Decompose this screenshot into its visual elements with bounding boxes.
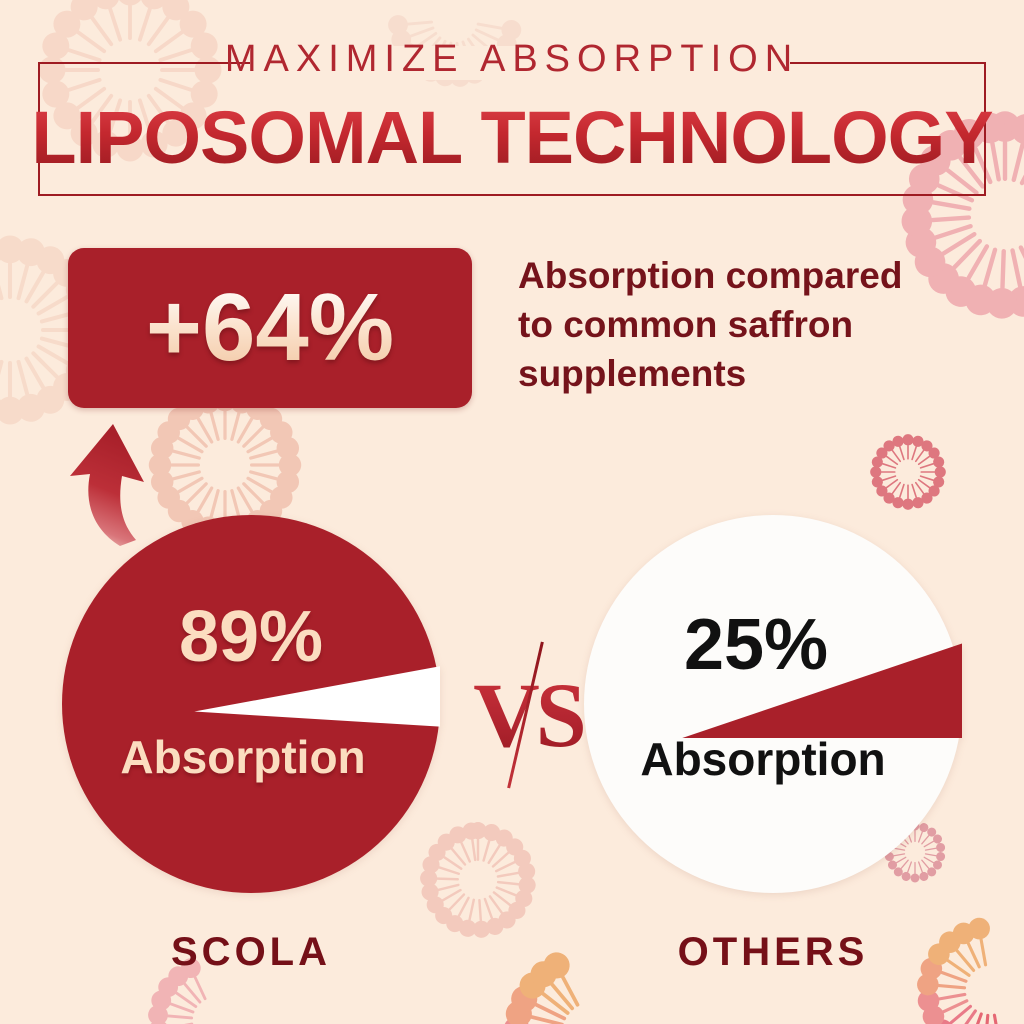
versus-badge: VS: [468, 650, 588, 780]
page-title: LIPOSOMAL TECHNOLOGY: [0, 95, 1024, 180]
versus-label: VS: [468, 650, 588, 780]
badge-description: Absorption compared to common saffron su…: [518, 252, 988, 398]
badge-value: +64%: [146, 280, 394, 376]
scola-metric-label: Absorption: [54, 734, 432, 780]
brand-label-scola: SCOLA: [62, 930, 440, 975]
description-line-2: to common saffron: [518, 301, 988, 350]
others-metric-label: Absorption: [598, 736, 928, 782]
infographic-canvas: MAXIMIZE ABSORPTION LIPOSOMAL TECHNOLOGY…: [0, 0, 1024, 1024]
header-kicker: MAXIMIZE ABSORPTION: [0, 38, 1024, 81]
liposome-ring-bottom-colour: [503, 948, 595, 1024]
others-percent: 25%: [606, 609, 906, 681]
description-line-1: Absorption compared: [518, 252, 988, 301]
liposome-ring-small-right: [870, 434, 946, 510]
pie-chart-scola: [62, 515, 440, 893]
brand-label-others: OTHERS: [584, 930, 962, 975]
description-line-3: supplements: [518, 350, 988, 399]
scola-percent: 89%: [62, 601, 440, 673]
absorption-increase-badge: +64%: [68, 248, 472, 408]
pie-chart-others: [584, 515, 962, 893]
